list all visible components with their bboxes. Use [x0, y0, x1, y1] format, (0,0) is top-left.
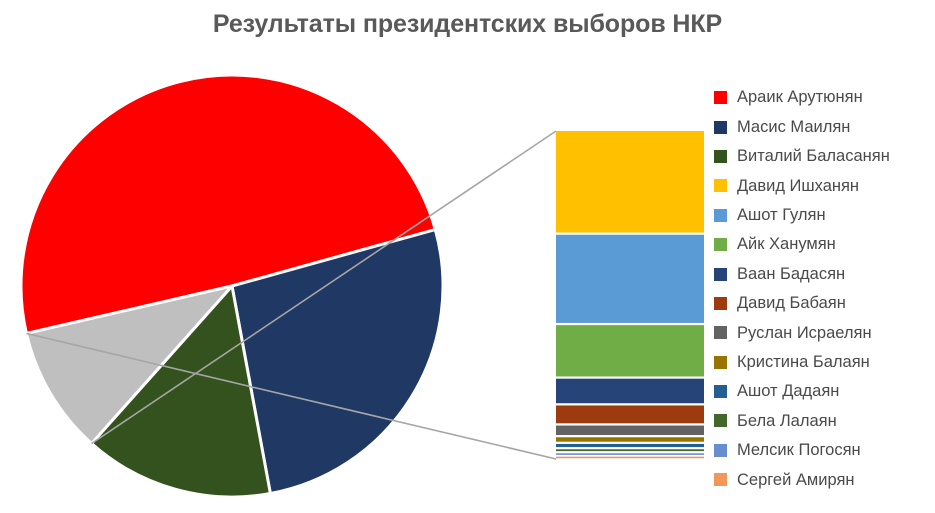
legend-item[interactable]: Араик Арутюнян: [714, 83, 935, 112]
chart-legend: Араик АрутюнянМасис МаилянВиталий Баласа…: [714, 83, 935, 494]
legend-item[interactable]: Ваан Бадасян: [714, 259, 935, 288]
legend-item[interactable]: Масис Маилян: [714, 112, 935, 141]
legend-swatch-icon: [714, 268, 727, 281]
legend-item-label: Давид Бабаян: [737, 295, 846, 312]
bar-segment[interactable]: [556, 453, 704, 455]
bar-segment[interactable]: [556, 449, 704, 451]
bar-segment[interactable]: [556, 131, 704, 233]
bar-of-pie-series: [556, 131, 704, 458]
legend-swatch-icon: [714, 356, 727, 369]
legend-swatch-icon: [714, 121, 727, 134]
legend-swatch-icon: [714, 444, 727, 457]
legend-swatch-icon: [714, 385, 727, 398]
legend-swatch-icon: [714, 297, 727, 310]
legend-item-label: Айк Ханумян: [737, 236, 836, 253]
legend-item[interactable]: Сергей Амирян: [714, 465, 935, 494]
legend-item-label: Кристина Балаян: [737, 354, 870, 371]
bar-segment[interactable]: [556, 437, 704, 441]
bar-segment[interactable]: [556, 379, 704, 404]
legend-swatch-icon: [714, 414, 727, 427]
legend-item-label: Сергей Амирян: [737, 472, 855, 489]
legend-item[interactable]: Ашот Дадаян: [714, 377, 935, 406]
legend-swatch-icon: [714, 150, 727, 163]
legend-item-label: Руслан Исраелян: [737, 325, 872, 342]
pie-series: [21, 75, 443, 497]
bar-segment[interactable]: [556, 444, 704, 447]
legend-item-label: Араик Арутюнян: [737, 89, 863, 106]
bar-segment[interactable]: [556, 325, 704, 376]
legend-item-label: Давид Ишханян: [737, 178, 859, 195]
legend-item[interactable]: Ашот Гулян: [714, 201, 935, 230]
bar-segment[interactable]: [556, 457, 704, 459]
bar-segment[interactable]: [556, 235, 704, 323]
legend-item[interactable]: Виталий Баласанян: [714, 142, 935, 171]
legend-item[interactable]: Мелсик Погосян: [714, 436, 935, 465]
legend-item-label: Виталий Баласанян: [737, 148, 890, 165]
legend-item[interactable]: Кристина Балаян: [714, 348, 935, 377]
chart-container: Результаты президентских выборов НКР Ара…: [0, 0, 935, 513]
legend-item-label: Мелсик Погосян: [737, 442, 861, 459]
legend-item-label: Бела Лалаян: [737, 413, 837, 430]
legend-item-label: Ашот Дадаян: [737, 383, 839, 400]
legend-swatch-icon: [714, 238, 727, 251]
legend-item[interactable]: Айк Ханумян: [714, 230, 935, 259]
bar-segment[interactable]: [556, 426, 704, 436]
legend-swatch-icon: [714, 179, 727, 192]
legend-swatch-icon: [714, 473, 727, 486]
legend-item[interactable]: Бела Лалаян: [714, 406, 935, 435]
legend-swatch-icon: [714, 209, 727, 222]
bar-segment[interactable]: [556, 405, 704, 423]
legend-item-label: Ашот Гулян: [737, 207, 826, 224]
legend-swatch-icon: [714, 326, 727, 339]
legend-item[interactable]: Давид Ишханян: [714, 171, 935, 200]
legend-item[interactable]: Давид Бабаян: [714, 289, 935, 318]
legend-item-label: Ваан Бадасян: [737, 266, 845, 283]
legend-swatch-icon: [714, 91, 727, 104]
legend-item[interactable]: Руслан Исраелян: [714, 318, 935, 347]
legend-item-label: Масис Маилян: [737, 119, 850, 136]
